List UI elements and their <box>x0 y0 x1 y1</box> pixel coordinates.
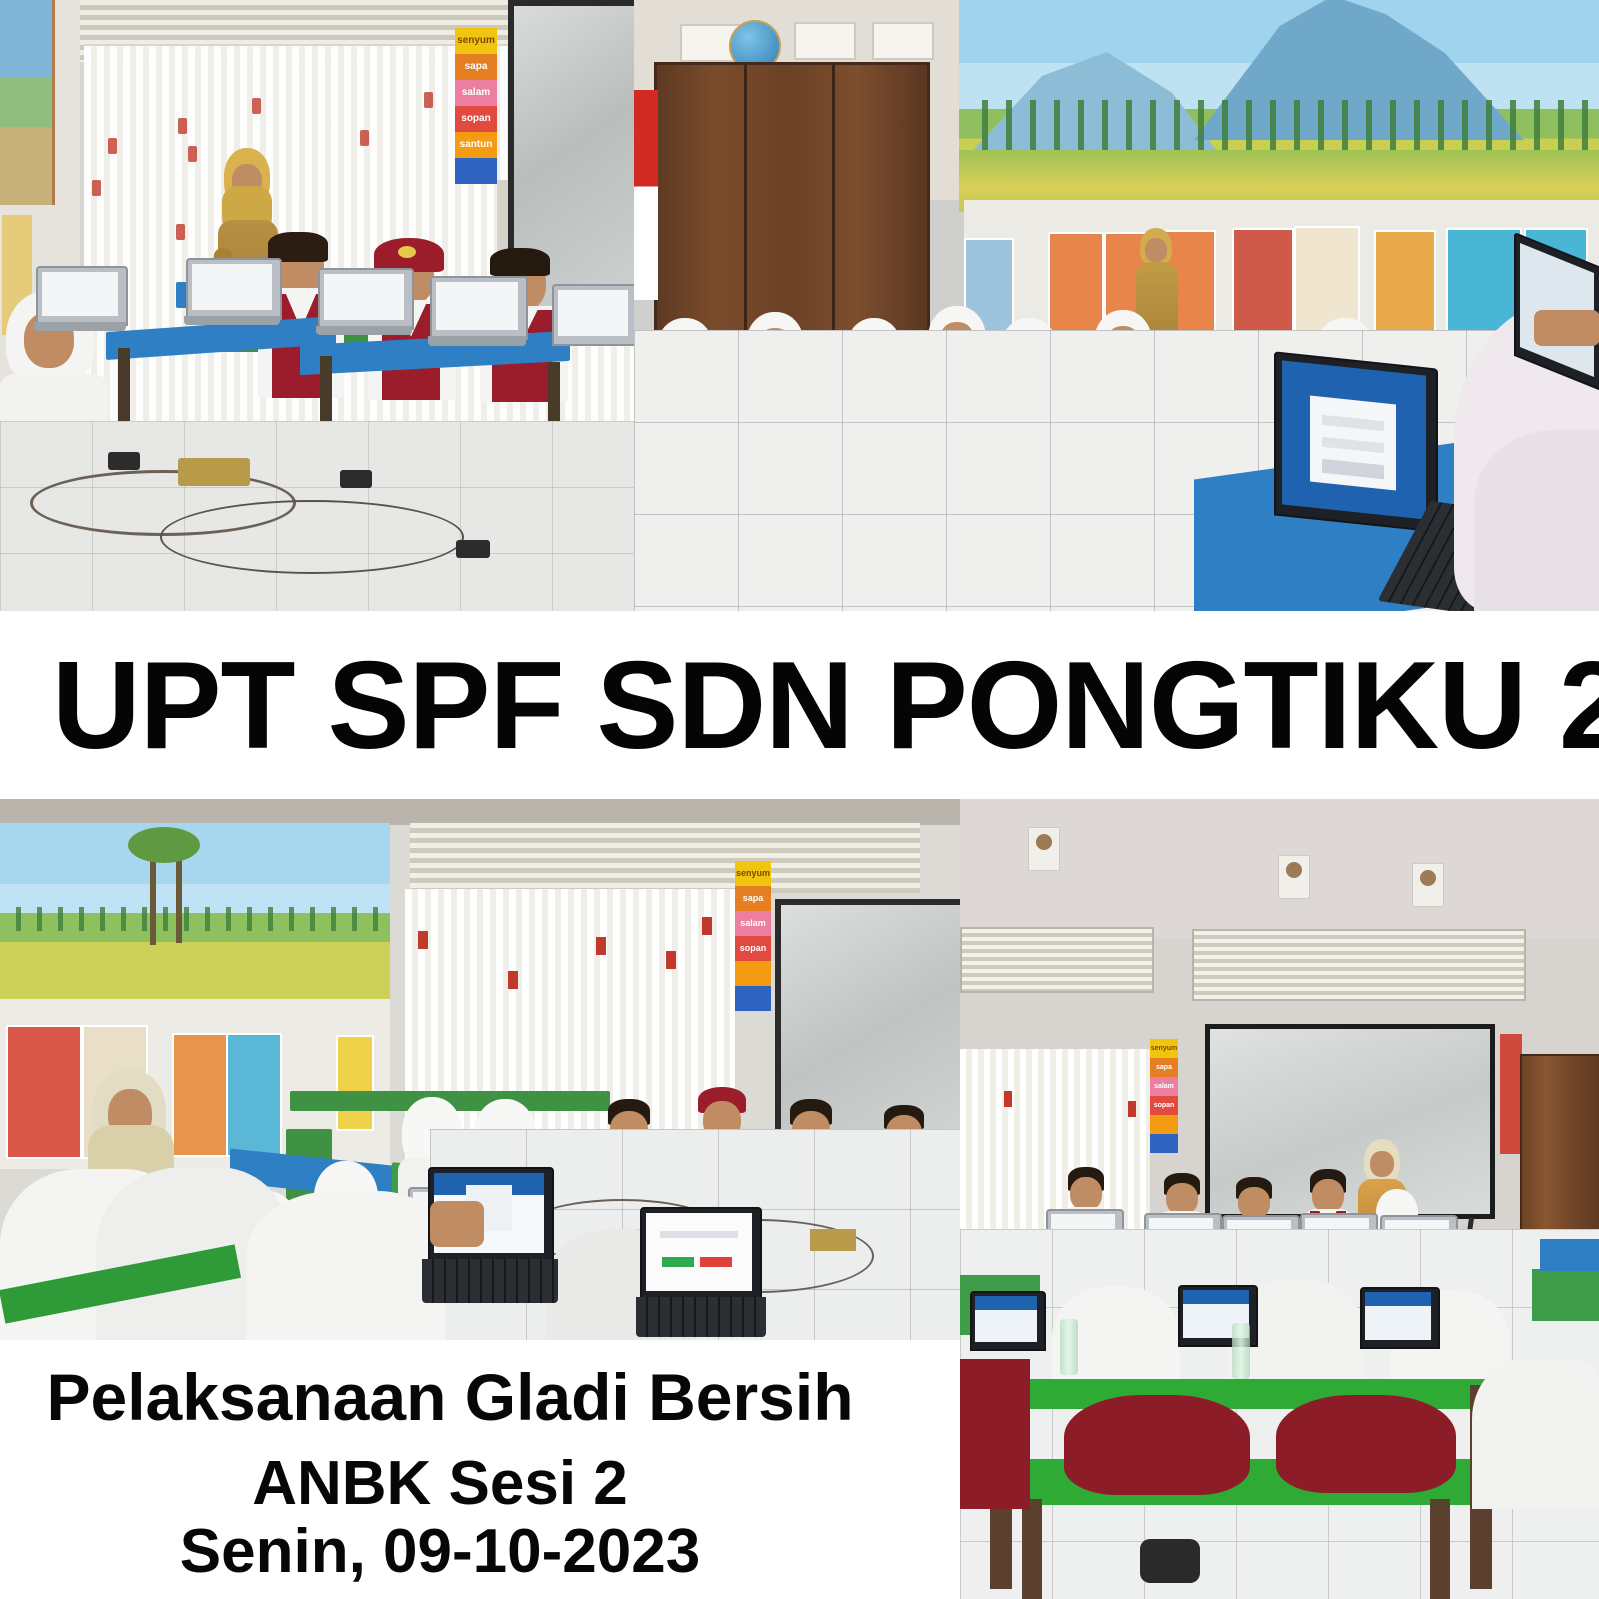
caption-block: Pelaksanaan Gladi Bersih ANBK Sesi 2 Sen… <box>0 1340 960 1599</box>
poster-word-0: senyum <box>1150 1039 1178 1058</box>
title-band: UPT SPF SDN PONGTIKU 2 <box>0 611 1599 799</box>
poster-word-1: sapa <box>455 54 497 80</box>
poster-word-5 <box>455 158 497 184</box>
character-poster: senyum sapa salam sopan santun <box>455 28 497 238</box>
poster-word-1: sapa <box>1150 1058 1178 1077</box>
poster-word-5 <box>1150 1134 1178 1153</box>
photo-top-right <box>634 0 1599 611</box>
hand <box>1534 310 1599 346</box>
indonesia-flag <box>634 90 658 300</box>
portrait-photo <box>1278 855 1310 899</box>
portrait-photo <box>1412 863 1444 907</box>
curtain-clip <box>176 224 185 240</box>
water-bottle <box>1060 1319 1078 1375</box>
poster-word-3: sopan <box>1150 1096 1178 1115</box>
poster-word-3: sopan <box>735 936 771 961</box>
curtain-clip <box>1004 1091 1012 1107</box>
window-louvre <box>960 927 1154 993</box>
poster-word-2: salam <box>735 911 771 936</box>
curtain-clip <box>92 180 101 196</box>
shoe <box>1140 1539 1200 1583</box>
mural-trees <box>964 100 1599 150</box>
desk <box>1540 1239 1599 1271</box>
wall-mural <box>0 0 55 205</box>
window-louvre <box>1192 929 1526 1001</box>
window-vent <box>794 22 856 60</box>
water-bottle <box>1232 1323 1250 1379</box>
character-poster: senyum sapa salam sopan <box>1150 1039 1178 1189</box>
curtain-clip <box>178 118 187 134</box>
power-strip <box>810 1229 856 1251</box>
wall-chart <box>1232 228 1294 342</box>
face <box>1145 238 1167 262</box>
poster-word-5 <box>735 986 771 1011</box>
poster-word-0: senyum <box>455 28 497 54</box>
power-cable <box>160 500 464 574</box>
photo-bottom-left: senyum sapa salam sopan <box>0 799 960 1340</box>
poster-word-1: sapa <box>735 886 771 911</box>
plug <box>108 452 140 470</box>
photo-collage: senyum sapa salam sopan santun <box>0 0 1599 1599</box>
portrait-photo <box>1028 827 1060 871</box>
curtain-clip <box>508 971 518 989</box>
ceiling <box>0 799 960 825</box>
bench <box>1532 1269 1599 1321</box>
plug <box>456 540 490 558</box>
seated-student <box>960 1359 1030 1509</box>
poster-word-0: senyum <box>735 861 771 886</box>
caption-line-2: ANBK Sesi 2 <box>0 1448 880 1520</box>
window-louvre <box>410 823 920 893</box>
door <box>1500 1034 1522 1154</box>
poster-word-4 <box>1150 1115 1178 1134</box>
cap-emblem <box>398 246 416 258</box>
seated-student <box>1472 1359 1599 1509</box>
curtain-clip <box>424 92 433 108</box>
curtain-clip <box>108 138 117 154</box>
plug <box>340 470 372 488</box>
hand <box>430 1201 484 1247</box>
curtain-clip <box>702 917 712 935</box>
photo-top-left: senyum sapa salam sopan santun <box>0 0 634 611</box>
hair <box>490 248 550 276</box>
curtain-clip <box>596 937 606 955</box>
power-strip <box>178 458 250 486</box>
page-title: UPT SPF SDN PONGTIKU 2 <box>52 635 1599 777</box>
seated-student-skirt <box>1276 1395 1456 1493</box>
cupboard-seam <box>832 64 835 360</box>
curtain-clip <box>1128 1101 1136 1117</box>
caption-line-3: Senin, 09-10-2023 <box>0 1516 880 1588</box>
mural-palm-leaves <box>128 827 200 863</box>
curtain-clip <box>252 98 261 114</box>
caption-line-1: Pelaksanaan Gladi Bersih <box>0 1358 900 1436</box>
poster-word-2: salam <box>1150 1077 1178 1096</box>
photo-bottom-right: senyum sapa salam sopan <box>960 799 1599 1599</box>
seated-student-skirt <box>1064 1395 1250 1495</box>
bench-leg <box>1022 1499 1042 1599</box>
curtain-clip <box>418 931 428 949</box>
window-vent <box>872 22 934 60</box>
poster-word-3: sopan <box>455 106 497 132</box>
poster-word-4 <box>735 961 771 986</box>
wall-chart <box>6 1025 82 1159</box>
curtain-clip <box>360 130 369 146</box>
wall-chart <box>226 1033 282 1157</box>
poster-word-2: salam <box>455 80 497 106</box>
foreground-student-body <box>1474 430 1599 611</box>
foreground-student <box>246 1191 446 1340</box>
wall-chart <box>336 1035 374 1131</box>
mural-trees <box>0 907 390 931</box>
poster-word-4: santun <box>455 132 497 158</box>
curtain-clip <box>666 951 676 969</box>
character-poster: senyum sapa salam sopan <box>735 861 771 1061</box>
curtain-clip <box>188 146 197 162</box>
bench-leg <box>1430 1499 1450 1599</box>
